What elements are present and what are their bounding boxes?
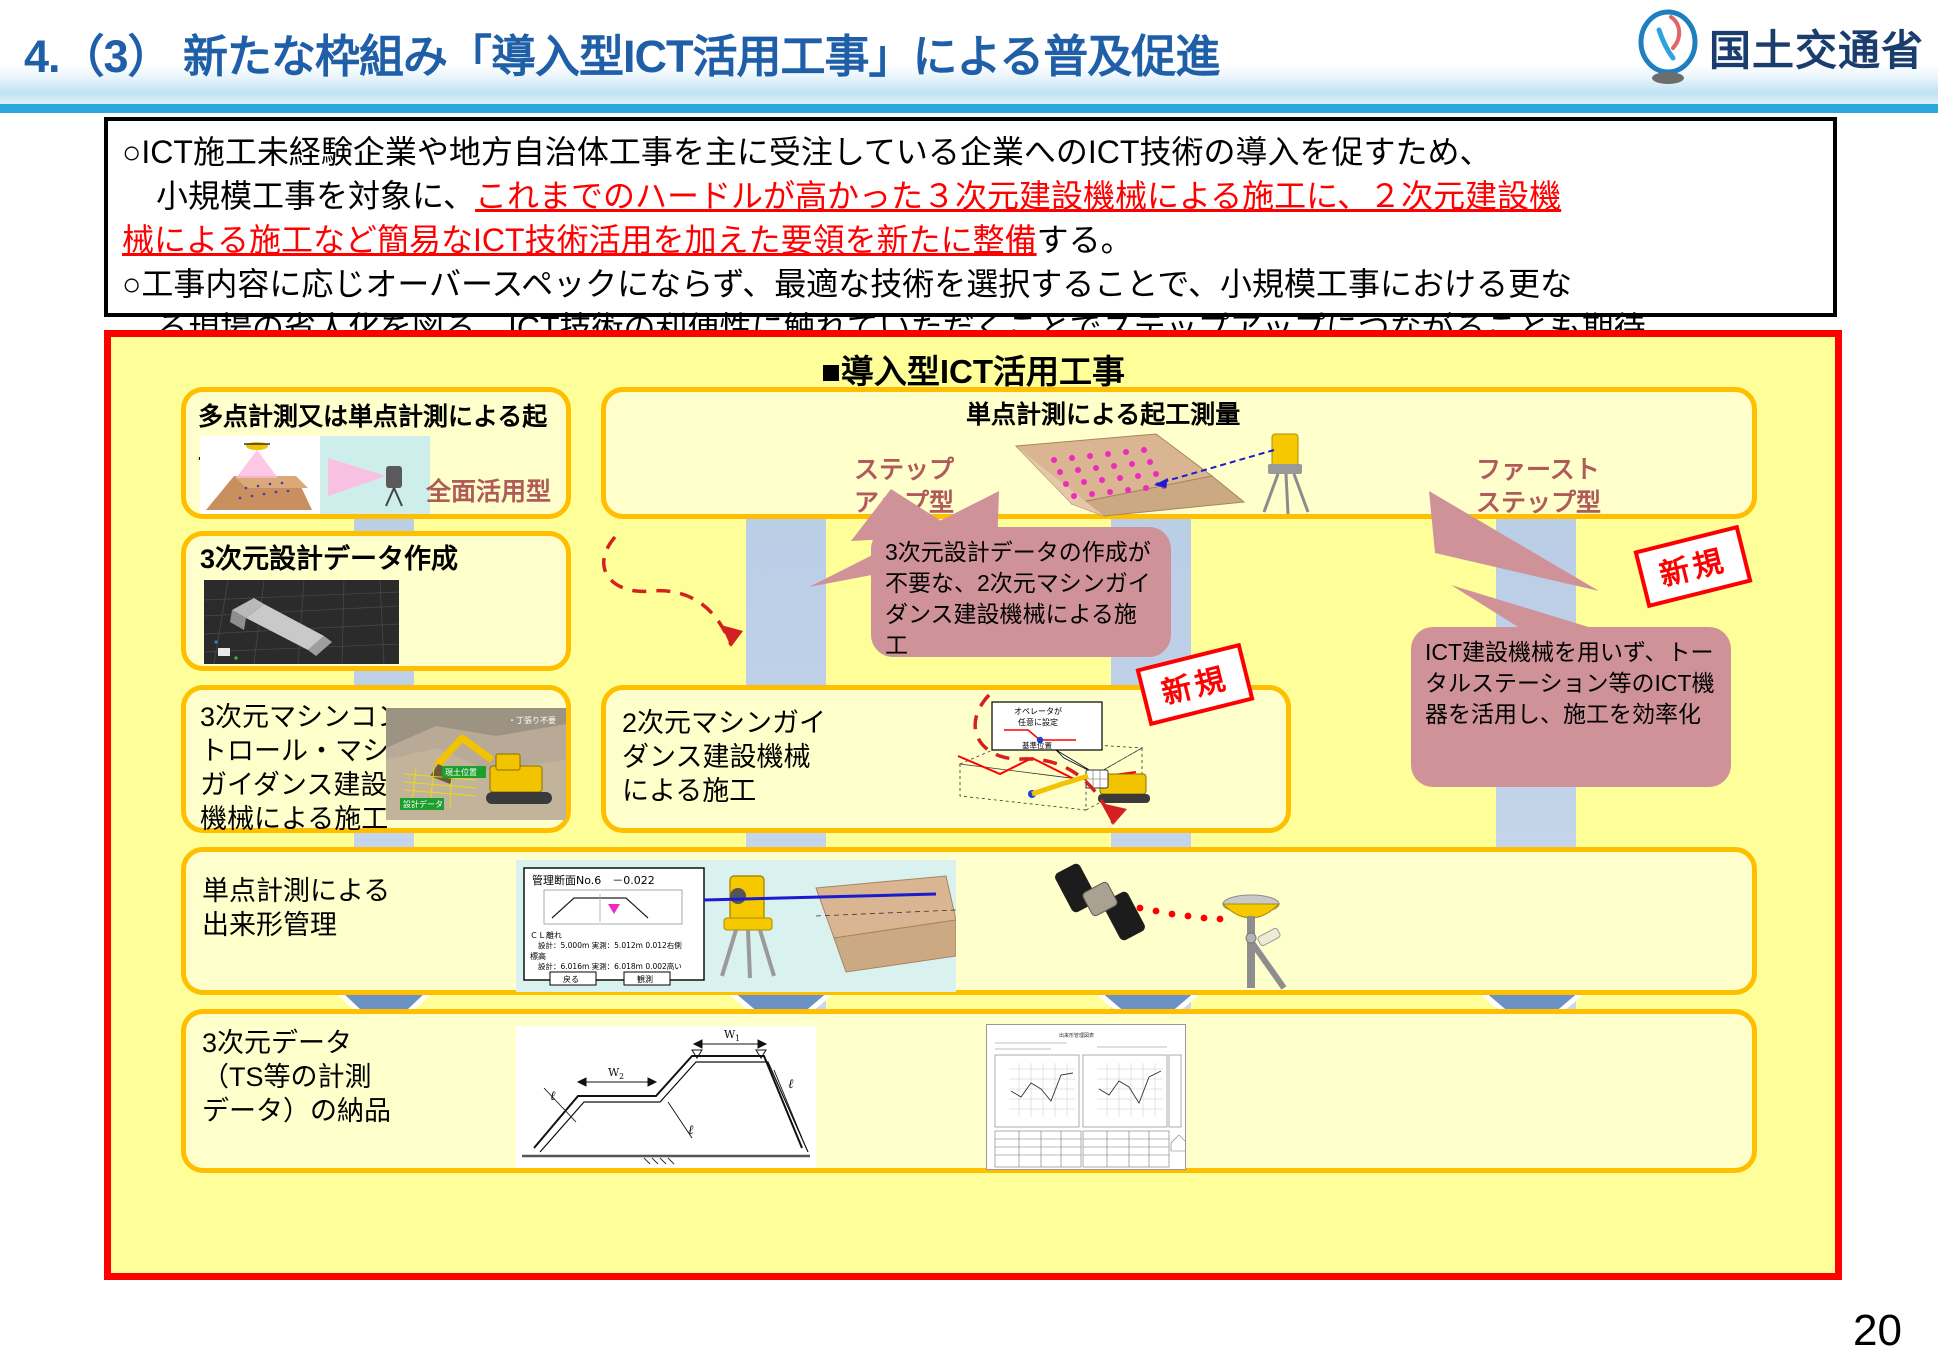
label-full-use-type: 全面活用型 bbox=[426, 476, 551, 509]
slide-root: 4.（3） 新たな枠組み「導入型ICT活用工事」による普及促進 国土交通省 ○I… bbox=[0, 0, 1938, 1372]
svg-text:・丁張り不要: ・丁張り不要 bbox=[508, 716, 556, 725]
statement-highlight: これまでのハードルが高かった３次元建設機械による施工に、２次元建設機 bbox=[475, 178, 1561, 214]
card-survey-left[interactable]: 多点計測又は単点計測による起工測量 bbox=[181, 387, 571, 519]
statement-box: ○ICT施工未経験企業や地方自治体工事を主に受注している企業へのICT技術の導入… bbox=[104, 117, 1837, 317]
svg-text:現土位置: 現土位置 bbox=[445, 767, 477, 777]
3d-design-model-render-image bbox=[204, 580, 399, 664]
card-shape-management[interactable]: 単点計測による 出来形管理 管理断面No.6 －0.022 ＣＬ離れ 設計：5.… bbox=[181, 847, 1757, 995]
statement-text: ○工事内容に応じオーバースペックにならず、最適な技術を選択することで、小規模工事… bbox=[122, 266, 1572, 302]
dashed-connector-left bbox=[581, 527, 801, 667]
excavator-3d-machine-control-photo: ・丁張り不要 現土位置 設計データ bbox=[386, 708, 566, 820]
statement-line-3: 械による施工など簡易なICT技術活用を加えた要領を新たに整備する。 bbox=[122, 218, 1823, 262]
statement-highlight: 械による施工など簡易なICT技術活用を加えた要領を新たに整備 bbox=[122, 222, 1037, 258]
callout-ict-instruments: ICT建設機械を用いず、トータルステーション等のICT機器を活用し、施工を効率化 bbox=[1411, 627, 1731, 787]
statement-line-2: 小規模工事を対象に、これまでのハードルが高かった３次元建設機械による施工に、２次… bbox=[122, 174, 1823, 218]
card-machine-control-3d[interactable]: 3次元マシンコン トロール・マシン ガイダンス建設 機械による施工 bbox=[181, 685, 571, 833]
card-design-3d[interactable]: 3次元設計データ作成 bbox=[181, 531, 571, 671]
callout-right-text: ICT建設機械を用いず、トータルステーション等のICT機器を活用し、施工を効率化 bbox=[1425, 637, 1717, 730]
svg-text:ＣＬ離れ: ＣＬ離れ bbox=[530, 930, 562, 940]
statement-line-1: ○ICT施工未経験企業や地方自治体工事を主に受注している企業へのICT技術の導入… bbox=[122, 130, 1823, 174]
new-stamp-right: 新規 bbox=[1633, 525, 1752, 608]
page-number: 20 bbox=[1853, 1306, 1902, 1356]
svg-text:標高: 標高 bbox=[530, 951, 546, 961]
ministry-logo: 国土交通省 bbox=[1637, 8, 1924, 86]
svg-text:1: 1 bbox=[735, 1034, 740, 1043]
svg-text:2: 2 bbox=[619, 1072, 624, 1081]
svg-text:ℓ: ℓ bbox=[788, 1077, 794, 1092]
callout-2d-machine-guidance: 3次元設計データの作成が不要な、2次元マシンガイダンス建設機械による施工 bbox=[871, 527, 1171, 657]
ict-framework-panel: ■導入型ICT活用工事 多点計測又は単 bbox=[104, 330, 1842, 1280]
svg-text:戻る: 戻る bbox=[563, 974, 579, 984]
cross-section-drawing: W 1 W 2 ℓ ℓ ℓ bbox=[516, 1026, 816, 1168]
svg-text:設計：5.000m 実測：5.012m 0.012右側: 設計：5.000m 実測：5.012m 0.012右側 bbox=[538, 940, 682, 950]
svg-text:観測: 観測 bbox=[637, 974, 653, 984]
svg-text:ℓ: ℓ bbox=[550, 1089, 556, 1104]
mlit-emblem-icon bbox=[1637, 8, 1699, 86]
svg-text:設計：6.016m 実測：6.018m 0.002高い: 設計：6.016m 実測：6.018m 0.002高い bbox=[538, 961, 682, 971]
gnss-satellite-rover-image bbox=[1036, 860, 1456, 992]
svg-text:管理断面No.6 －0.022: 管理断面No.6 －0.022 bbox=[532, 873, 655, 887]
title-underline-rule bbox=[0, 104, 1938, 113]
card-machine-control-3d-title: 3次元マシンコン トロール・マシン ガイダンス建設 機械による施工 bbox=[200, 700, 416, 836]
drone-laser-scanner-survey-image bbox=[200, 436, 430, 514]
card-shape-management-title: 単点計測による 出来形管理 bbox=[202, 874, 390, 942]
total-station-shape-management-image: 管理断面No.6 －0.022 ＣＬ離れ 設計：5.000m 実測：5.012m… bbox=[516, 860, 956, 992]
ministry-name: 国土交通省 bbox=[1709, 17, 1924, 78]
as-built-management-table-sheet: 出来形管理図表 bbox=[986, 1024, 1186, 1170]
card-data-delivery-title: 3次元データ （TS等の計測 データ）の納品 bbox=[202, 1026, 391, 1128]
card-survey-right-title: 単点計測による起工測量 bbox=[966, 398, 1240, 432]
statement-text: 小規模工事を対象に、 bbox=[156, 178, 475, 214]
callout-middle-text: 3次元設計データの作成が不要な、2次元マシンガイダンス建設機械による施工 bbox=[885, 537, 1157, 661]
card-design-3d-title: 3次元設計データ作成 bbox=[200, 542, 458, 576]
svg-text:出来形管理図表: 出来形管理図表 bbox=[1059, 1032, 1094, 1039]
statement-text: する。 bbox=[1037, 222, 1133, 258]
svg-text:設計データ: 設計データ bbox=[403, 799, 443, 809]
panel-title: ■導入型ICT活用工事 bbox=[111, 345, 1835, 393]
statement-line-4: ○工事内容に応じオーバースペックにならず、最適な技術を選択することで、小規模工事… bbox=[122, 262, 1823, 306]
card-machine-guidance-2d-title: 2次元マシンガイ ダンス建設機械 による施工 bbox=[622, 706, 826, 808]
statement-text: ○ICT施工未経験企業や地方自治体工事を主に受注している企業へのICT技術の導入… bbox=[122, 134, 1491, 170]
card-data-delivery[interactable]: 3次元データ （TS等の計測 データ）の納品 W 1 W bbox=[181, 1009, 1757, 1173]
page-title: 4.（3） 新たな枠組み「導入型ICT活用工事」による普及促進 bbox=[24, 20, 1219, 85]
